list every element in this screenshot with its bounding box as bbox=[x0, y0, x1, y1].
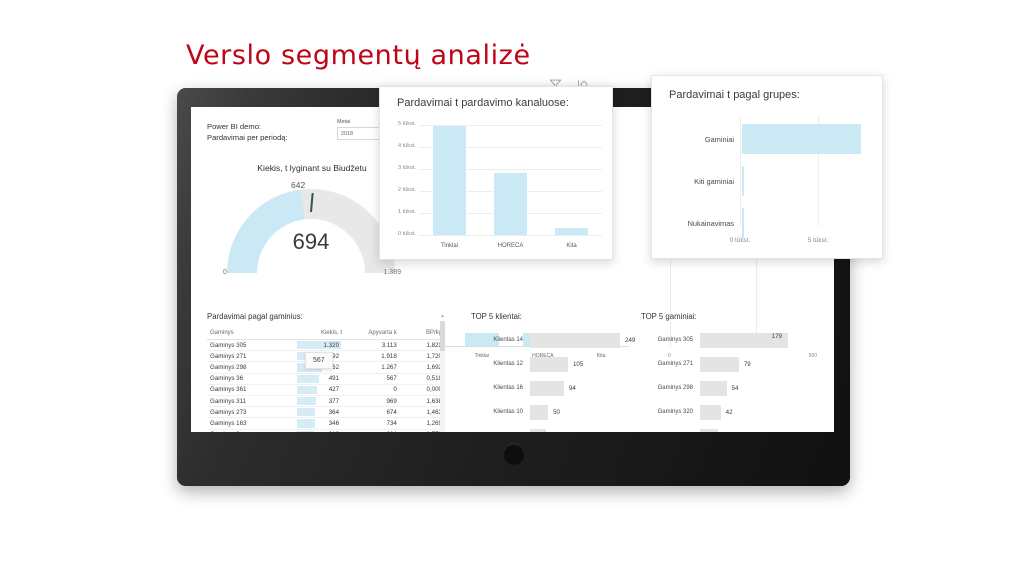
cell-qty-text: 346 bbox=[329, 420, 339, 427]
groups-xtick-1: 5 tūkst. bbox=[808, 237, 829, 244]
channels-cat-2: Kita bbox=[547, 243, 597, 249]
list-item-bar bbox=[530, 357, 568, 372]
list-item-bar bbox=[530, 381, 564, 396]
channels-ytick-0: 0 tūkst. bbox=[390, 231, 416, 237]
groups-bar-chart: GaminiaiKiti gaminiaiNukainavimas 0 tūks… bbox=[662, 112, 872, 250]
popup-card-channels[interactable]: Pardavimai t pardavimo kanaluose: 0 tūks… bbox=[379, 86, 613, 260]
cell-kiekis: 346 bbox=[297, 418, 345, 429]
dashboard-header-line2: Pardavimai per periodą: bbox=[207, 132, 288, 143]
list-item-bar bbox=[700, 381, 727, 396]
groups-bar-2[interactable] bbox=[742, 208, 744, 238]
list-item-label: Gaminys 305 bbox=[641, 337, 700, 343]
products-table-panel: Pardavimai pagal gaminius: Gaminys Kieki… bbox=[207, 312, 445, 432]
dashboard-header: Power BI demo: Pardavimai per periodą: bbox=[207, 121, 288, 143]
list-item[interactable]: Klientas 1694 bbox=[471, 376, 651, 400]
cell-bpkg: 1,758 bbox=[400, 429, 445, 432]
list-item-bar bbox=[530, 429, 546, 433]
cell-qty-text: 1.320 bbox=[324, 342, 339, 349]
gauge-min-label: 0 bbox=[223, 269, 227, 276]
cell-apyvarta: 1.918 bbox=[345, 351, 400, 362]
list-item-value: 79 bbox=[739, 361, 751, 368]
channels-bar-chart: 0 tūkst.1 tūkst.2 tūkst.3 tūkst.4 tūkst.… bbox=[390, 119, 604, 251]
top5-products-panel: TOP 5 gaminiai: Gaminys 305179Gaminys 27… bbox=[641, 312, 801, 432]
list-item-value: 50 bbox=[548, 409, 560, 416]
table-scrollbar[interactable]: ▴ ▾ bbox=[440, 321, 445, 432]
cell-apyvarta: 3.113 bbox=[345, 340, 400, 351]
list-item-bar-wrap: 36 bbox=[700, 429, 730, 433]
list-item-bar-wrap: 54 bbox=[700, 381, 738, 396]
groups-row-1[interactable]: Kiti gaminiai bbox=[662, 164, 872, 198]
cell-bpkg: 1,269 bbox=[400, 418, 445, 429]
cell-kiekis: 377 bbox=[297, 395, 345, 406]
cell-apyvarta: 674 bbox=[345, 407, 400, 418]
list-item[interactable]: Gaminys 31136 bbox=[641, 424, 801, 432]
cell-gaminys: Gaminys 271 bbox=[207, 351, 297, 362]
cell-qty-text: 377 bbox=[329, 398, 339, 405]
cell-qty-text: 92 bbox=[332, 353, 339, 360]
home-button[interactable] bbox=[503, 443, 525, 465]
list-item-label: Klientas 16 bbox=[471, 385, 530, 391]
list-item[interactable]: Klientas 1839 bbox=[471, 424, 651, 432]
groups-label-2: Nukainavimas bbox=[662, 219, 742, 228]
cell-bpkg: 1,720 bbox=[400, 351, 445, 362]
dashboard-header-line1: Power BI demo: bbox=[207, 121, 288, 132]
cell-apyvarta: 0 bbox=[345, 384, 400, 395]
list-item[interactable]: Gaminys 305179 bbox=[641, 328, 801, 352]
list-item-bar-wrap: 249 bbox=[530, 333, 635, 348]
cell-kiekis: 427 bbox=[297, 384, 345, 395]
list-item-bar bbox=[530, 333, 620, 348]
gauge-target-value: 642 bbox=[291, 180, 305, 190]
list-item[interactable]: Gaminys 32042 bbox=[641, 400, 801, 424]
cell-qty-bar bbox=[297, 375, 318, 383]
table-row[interactable]: Gaminys 3051.3203.1131,821 bbox=[207, 340, 445, 351]
cell-apyvarta: 969 bbox=[345, 395, 400, 406]
channels-ytick-1: 1 tūkst. bbox=[390, 209, 416, 215]
list-item-label: Gaminys 271 bbox=[641, 361, 700, 367]
groups-row-2[interactable]: Nukainavimas bbox=[662, 206, 872, 240]
list-item-bar-wrap: 79 bbox=[700, 357, 751, 372]
page-title: Verslo segmentų analizė bbox=[186, 40, 786, 71]
cell-qty-text: 427 bbox=[329, 386, 339, 393]
col-bpkg[interactable]: BP/kg bbox=[400, 328, 445, 340]
col-kiekis[interactable]: Kiekis, t bbox=[297, 328, 345, 340]
list-item-value: 179 bbox=[767, 333, 782, 340]
channels-ytick-2: 2 tūkst. bbox=[390, 187, 416, 193]
cell-bpkg: 1,692 bbox=[400, 362, 445, 373]
list-item-bar bbox=[700, 357, 739, 372]
list-item-bar-wrap: 50 bbox=[530, 405, 560, 420]
popup-channels-title: Pardavimai t pardavimo kanaluose: bbox=[397, 97, 569, 109]
list-item-value: 94 bbox=[564, 385, 576, 392]
cell-apyvarta: 664 bbox=[345, 429, 400, 432]
list-item[interactable]: Gaminys 27179 bbox=[641, 352, 801, 376]
table-header-row: Gaminys Kiekis, t Apyvarta k BP/kg bbox=[207, 328, 445, 340]
table-row[interactable]: Gaminys 2733646741,463 bbox=[207, 407, 445, 418]
col-apyvarta[interactable]: Apyvarta k bbox=[345, 328, 400, 340]
cell-gaminys: Gaminys 163 bbox=[207, 418, 297, 429]
cell-bpkg: 0,000 bbox=[400, 384, 445, 395]
cell-gaminys: Gaminys 298 bbox=[207, 362, 297, 373]
list-item[interactable]: Gaminys 29854 bbox=[641, 376, 801, 400]
channels-bar-kita[interactable] bbox=[555, 228, 588, 235]
list-item-value: 105 bbox=[568, 361, 583, 368]
list-item-bar-wrap: 94 bbox=[530, 381, 576, 396]
list-item-bar-wrap: 179 bbox=[700, 333, 788, 348]
channels-cat-1: HORECA bbox=[486, 243, 536, 249]
top5-clients-title: TOP 5 klientai: bbox=[471, 312, 651, 321]
channels-categories: Tinklai HORECA Kita bbox=[419, 243, 602, 249]
cell-bpkg: 0,518 bbox=[400, 373, 445, 384]
list-item-bar bbox=[700, 405, 721, 420]
cell-qty-bar bbox=[297, 397, 315, 405]
cell-qty-text: 62 bbox=[332, 364, 339, 371]
list-item[interactable]: Klientas 12105 bbox=[471, 352, 651, 376]
gauge-max-label: 1.389 bbox=[383, 269, 401, 276]
list-item-bar bbox=[700, 429, 718, 433]
table-row[interactable]: Gaminys 364915670,518 bbox=[207, 373, 445, 384]
cell-qty-text: 364 bbox=[329, 409, 339, 416]
cell-qty-text: 491 bbox=[329, 375, 339, 382]
cell-apyvarta: 734 bbox=[345, 418, 400, 429]
scroll-up-icon[interactable]: ▴ bbox=[440, 313, 445, 319]
table-scrollbar-thumb[interactable] bbox=[440, 321, 445, 351]
gauge-visual: 642 694 0 1.389 bbox=[227, 189, 395, 273]
groups-row-0[interactable]: Gaminiai bbox=[662, 122, 872, 156]
cell-apyvarta: 1.267 bbox=[345, 362, 400, 373]
list-item-bar-wrap: 42 bbox=[700, 405, 733, 420]
bg-tick-1: 500 bbox=[809, 353, 817, 359]
cell-qty-bar bbox=[297, 431, 313, 433]
list-item[interactable]: Klientas 1050 bbox=[471, 400, 651, 424]
groups-label-1: Kiti gaminiai bbox=[662, 177, 742, 186]
table-row[interactable]: Gaminys 3113779691,638 bbox=[207, 395, 445, 406]
list-item-label: Klientas 10 bbox=[471, 409, 530, 415]
cell-qty-bar bbox=[297, 419, 314, 427]
cell-kiekis: 1.320 bbox=[297, 340, 345, 351]
list-item[interactable]: Klientas 14249 bbox=[471, 328, 651, 352]
popup-groups-title: Pardavimai t pagal grupes: bbox=[669, 89, 800, 101]
list-item-value: 249 bbox=[620, 337, 635, 344]
groups-bar-1[interactable] bbox=[742, 166, 744, 196]
cell-gaminys: Gaminys 2 bbox=[207, 429, 297, 432]
table-row[interactable]: Gaminys 1633467341,269 bbox=[207, 418, 445, 429]
list-item-value: 42 bbox=[721, 409, 733, 416]
channels-gridline-0 bbox=[419, 235, 602, 236]
cell-qty-text: 310 bbox=[329, 431, 339, 432]
list-item-value: 54 bbox=[727, 385, 739, 392]
cell-qty-bar bbox=[297, 408, 315, 416]
cell-gaminys: Gaminys 36 bbox=[207, 373, 297, 384]
list-item-bar: 179 bbox=[700, 333, 788, 348]
groups-bar-0[interactable] bbox=[742, 124, 861, 154]
channels-ytick-5: 5 tūkst. bbox=[390, 121, 416, 127]
groups-xtick-0: 0 tūkst. bbox=[730, 237, 751, 244]
cell-gaminys: Gaminys 311 bbox=[207, 395, 297, 406]
list-item-label: Klientas 12 bbox=[471, 361, 530, 367]
cell-kiekis: 491 bbox=[297, 373, 345, 384]
list-item-label: Klientas 14 bbox=[471, 337, 530, 343]
cell-bpkg: 1,463 bbox=[400, 407, 445, 418]
cell-bpkg: 1,821 bbox=[400, 340, 445, 351]
col-gaminys[interactable]: Gaminys bbox=[207, 328, 297, 340]
products-table[interactable]: Gaminys Kiekis, t Apyvarta k BP/kg Gamin… bbox=[207, 328, 445, 432]
products-table-title: Pardavimai pagal gaminius: bbox=[207, 312, 445, 321]
cell-gaminys: Gaminys 273 bbox=[207, 407, 297, 418]
popup-card-groups[interactable]: Pardavimai t pagal grupes: GaminiaiKiti … bbox=[651, 75, 883, 259]
list-item-bar bbox=[530, 405, 548, 420]
top5-clients-panel: TOP 5 klientai: Klientas 14249Klientas 1… bbox=[471, 312, 651, 432]
list-item-bar-wrap: 105 bbox=[530, 357, 583, 372]
gauge-main-value: 694 bbox=[227, 229, 395, 255]
channels-cat-0: Tinklai bbox=[425, 243, 475, 249]
table-row[interactable]: Gaminys 23106641,758 bbox=[207, 429, 445, 432]
channels-bar-horeca[interactable] bbox=[494, 173, 527, 235]
top5-products-title: TOP 5 gaminiai: bbox=[641, 312, 801, 321]
cell-gaminys: Gaminys 361 bbox=[207, 384, 297, 395]
groups-label-0: Gaminiai bbox=[662, 135, 742, 144]
cell-kiekis: 310 bbox=[297, 429, 345, 432]
list-item-label: Gaminys 320 bbox=[641, 409, 700, 415]
cell-kiekis: 364 bbox=[297, 407, 345, 418]
cell-qty-bar bbox=[297, 386, 317, 394]
channels-ytick-3: 3 tūkst. bbox=[390, 165, 416, 171]
channels-ytick-4: 4 tūkst. bbox=[390, 143, 416, 149]
table-row[interactable]: Gaminys 36142700,000 bbox=[207, 384, 445, 395]
cell-gaminys: Gaminys 305 bbox=[207, 340, 297, 351]
cell-apyvarta: 567 bbox=[345, 373, 400, 384]
list-item-bar-wrap: 39 bbox=[530, 429, 558, 433]
table-tooltip: 567 bbox=[305, 352, 333, 369]
channels-bars bbox=[419, 125, 602, 235]
year-slicer-value: 2018 bbox=[341, 131, 353, 137]
list-item-label: Gaminys 298 bbox=[641, 385, 700, 391]
channels-bar-tinklai[interactable] bbox=[433, 126, 466, 235]
cell-bpkg: 1,638 bbox=[400, 395, 445, 406]
